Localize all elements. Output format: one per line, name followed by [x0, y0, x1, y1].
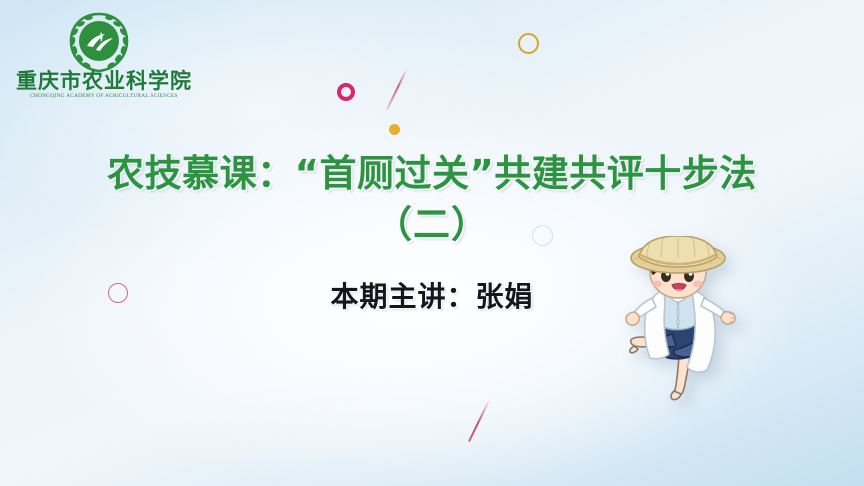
cartoon-farmer-boy-illustration [608, 236, 776, 404]
gold-ring-decoration [518, 33, 539, 54]
logo-english-name: CHONGQING ACADEMY OF AGRICULTURAL SCIENC… [14, 94, 194, 99]
magenta-ring-decoration [337, 83, 355, 101]
institution-logo: 重庆市农业科学院 CHONGQING ACADEMY OF AGRICULTUR… [14, 8, 194, 104]
green-wheat-wreath-emblem-icon [66, 10, 132, 76]
presentation-slide: 重庆市农业科学院 CHONGQING ACADEMY OF AGRICULTUR… [0, 0, 864, 486]
slide-title: 农技慕课：“首厕过关”共建共评十步法 （二） [0, 148, 864, 250]
logo-chinese-name: 重庆市农业科学院 [14, 70, 194, 91]
title-line-1: 农技慕课：“首厕过关”共建共评十步法 [0, 148, 864, 199]
pink-diagonal-line-bottom-decoration [468, 400, 490, 442]
gold-dot-decoration [389, 124, 400, 135]
pink-diagonal-line-top-decoration [386, 68, 408, 110]
